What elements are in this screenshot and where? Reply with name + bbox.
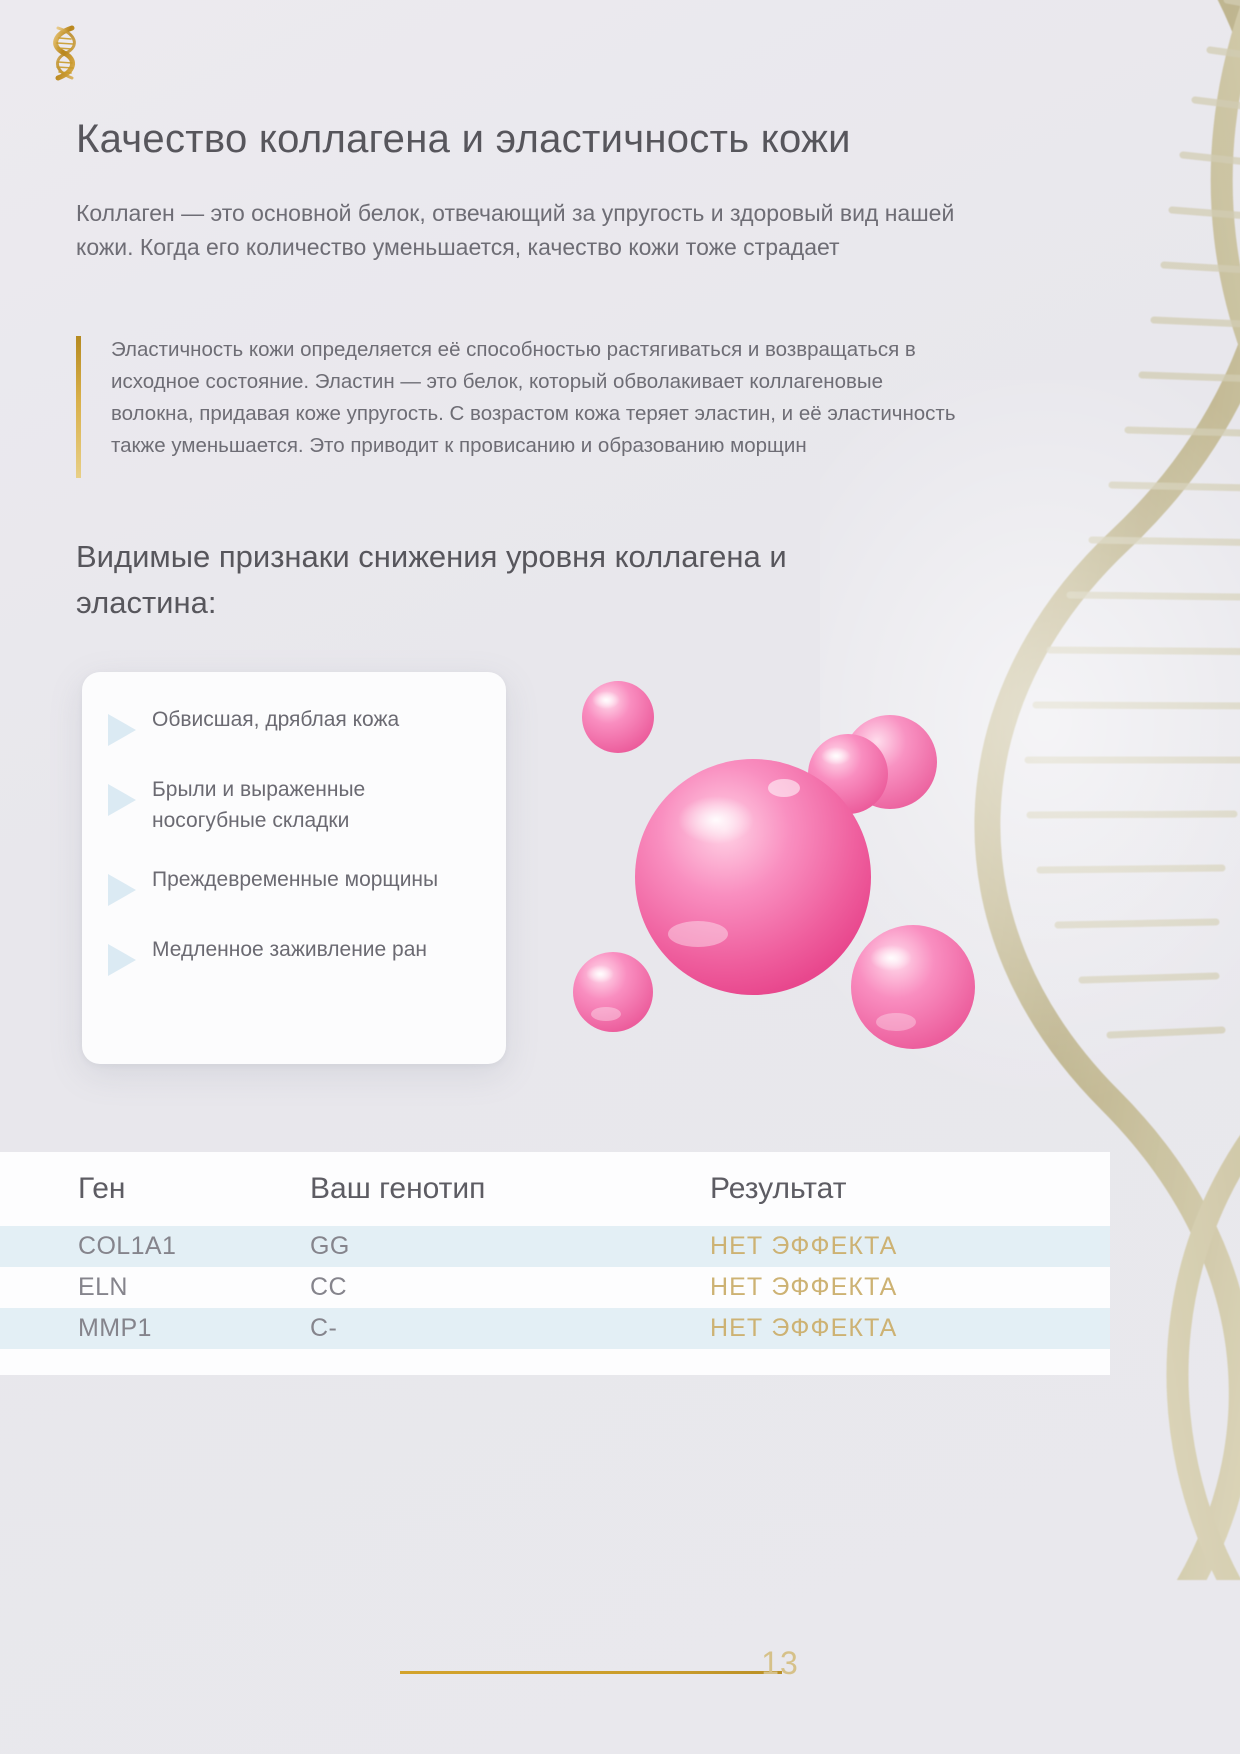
list-item: Обвисшая, дряблая кожа <box>108 702 480 746</box>
list-item: Преждевременные морщины <box>108 862 480 906</box>
list-item: Медленное заживление ран <box>108 932 480 976</box>
page-title: Качество коллагена и эластичность кожи <box>76 117 1076 162</box>
column-header-gene: Ген <box>0 1172 310 1206</box>
cell-genotype: GG <box>310 1232 710 1261</box>
cell-genotype: C- <box>310 1314 710 1343</box>
dna-helix-icon <box>38 22 92 84</box>
table-row: ELN CC НЕТ ЭФФЕКТА <box>0 1267 1110 1308</box>
table-row: MMP1 C- НЕТ ЭФФЕКТА <box>0 1308 1110 1349</box>
list-item-label: Обвисшая, дряблая кожа <box>152 702 399 735</box>
column-header-result: Результат <box>710 1172 1110 1206</box>
cell-result: НЕТ ЭФФЕКТА <box>710 1273 1110 1302</box>
triangle-bullet-icon <box>108 944 136 976</box>
table-row: COL1A1 GG НЕТ ЭФФЕКТА <box>0 1226 1110 1267</box>
triangle-bullet-icon <box>108 874 136 906</box>
cell-result: НЕТ ЭФФЕКТА <box>710 1314 1110 1343</box>
footer-divider <box>400 1671 782 1674</box>
table-header-row: Ген Ваш генотип Результат <box>0 1152 1110 1226</box>
column-header-genotype: Ваш генотип <box>310 1172 710 1206</box>
pink-collagen-droplets-illustration <box>548 662 1018 1082</box>
list-item-label: Медленное заживление ран <box>152 932 427 965</box>
cell-gene: COL1A1 <box>0 1232 310 1261</box>
background-glow <box>820 380 1240 1140</box>
genotype-results-table: Ген Ваш генотип Результат COL1A1 GG НЕТ … <box>0 1152 1110 1375</box>
visible-signs-card: Обвисшая, дряблая кожа Брыли и выраженны… <box>82 672 506 1064</box>
list-item-label: Преждевременные морщины <box>152 862 438 895</box>
cell-gene: MMP1 <box>0 1314 310 1343</box>
section-title: Видимые признаки снижения уровня коллаге… <box>76 534 916 626</box>
report-page: Качество коллагена и эластичность кожи К… <box>0 0 1240 1754</box>
triangle-bullet-icon <box>108 784 136 816</box>
list-item-label: Брыли и выраженные носогубные складки <box>152 772 480 836</box>
highlight-quote: Эластичность кожи определяется её способ… <box>76 334 956 462</box>
cell-gene: ELN <box>0 1273 310 1302</box>
cell-genotype: CC <box>310 1273 710 1302</box>
cell-result: НЕТ ЭФФЕКТА <box>710 1232 1110 1261</box>
list-item: Брыли и выраженные носогубные складки <box>108 772 480 836</box>
page-number: 13 <box>735 1645 825 1682</box>
intro-paragraph: Коллаген — это основной белок, отвечающи… <box>76 196 976 264</box>
triangle-bullet-icon <box>108 714 136 746</box>
